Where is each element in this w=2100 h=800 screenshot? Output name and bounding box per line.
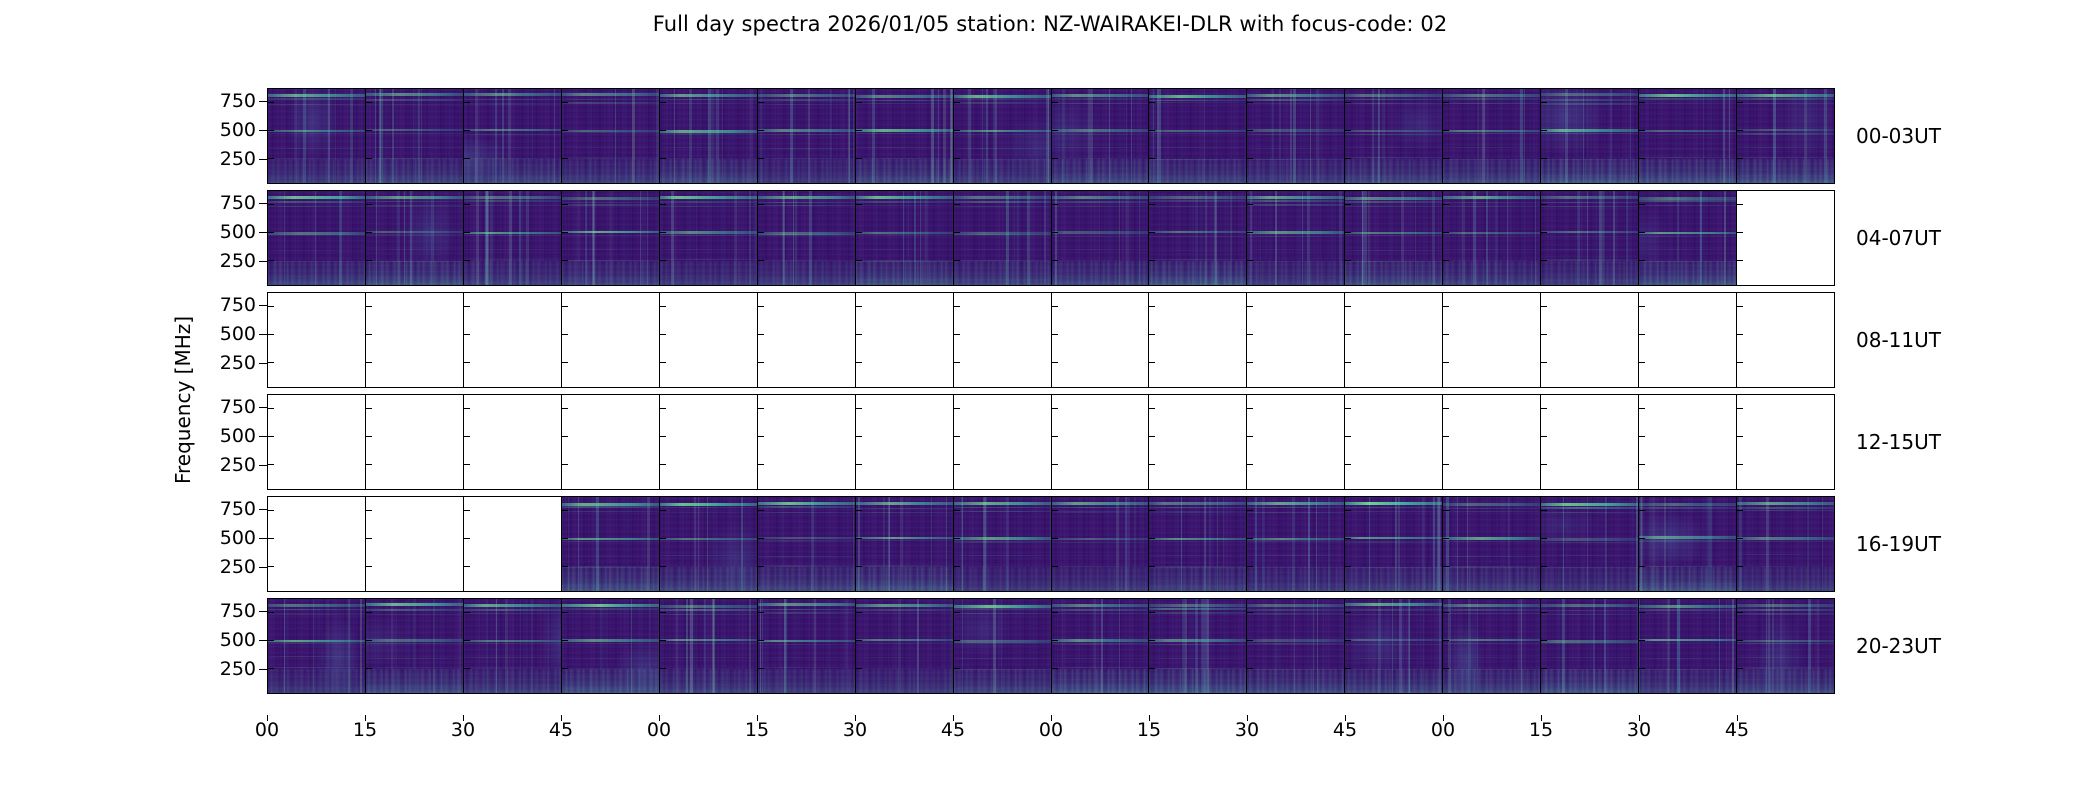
row-time-label: 08-11UT bbox=[1856, 328, 1941, 352]
y-tick-mark bbox=[267, 362, 274, 363]
low-frequency-band bbox=[758, 567, 855, 591]
spectra-broad-emission bbox=[1443, 599, 1540, 693]
y-tick-mark bbox=[659, 334, 666, 335]
y-tick-mark bbox=[757, 436, 764, 437]
spectrogram-panel bbox=[561, 88, 659, 184]
row-time-label: 04-07UT bbox=[1856, 226, 1941, 250]
y-tick-mark bbox=[1442, 158, 1449, 159]
y-tick-mark-outer bbox=[259, 407, 267, 408]
y-tick-mark bbox=[1638, 334, 1645, 335]
y-tick-mark bbox=[855, 260, 862, 261]
x-tick-label: 00 bbox=[255, 719, 279, 741]
y-tick-mark bbox=[953, 510, 960, 511]
spectrogram-row bbox=[267, 598, 1835, 694]
spectra-broad-emission bbox=[1052, 89, 1149, 183]
y-tick-mark bbox=[757, 640, 764, 641]
y-tick-mark bbox=[1540, 510, 1547, 511]
empty-panel bbox=[1246, 292, 1344, 388]
empty-panel bbox=[1246, 394, 1344, 490]
y-tick-mark bbox=[855, 204, 862, 205]
y-tick-mark bbox=[757, 612, 764, 613]
low-frequency-band bbox=[1052, 261, 1149, 285]
y-tick-mark bbox=[757, 260, 764, 261]
low-frequency-band bbox=[1149, 669, 1246, 693]
y-tick-label: 250 bbox=[220, 454, 256, 476]
spectrogram-panel bbox=[1344, 598, 1442, 694]
row-panels bbox=[267, 394, 1835, 490]
y-tick-mark bbox=[1540, 640, 1547, 641]
y-tick-mark bbox=[1246, 204, 1253, 205]
y-tick-mark bbox=[1638, 204, 1645, 205]
empty-panel bbox=[1736, 394, 1835, 490]
low-frequency-band bbox=[758, 669, 855, 693]
y-tick-mark-outer bbox=[259, 509, 267, 510]
spectrogram-panel bbox=[855, 496, 953, 592]
y-tick-mark bbox=[1148, 204, 1155, 205]
y-tick-mark bbox=[1736, 538, 1743, 539]
y-tick-mark bbox=[1540, 362, 1547, 363]
y-tick-mark-outer bbox=[259, 611, 267, 612]
y-tick-mark bbox=[561, 566, 568, 567]
y-tick-mark bbox=[659, 612, 666, 613]
x-tick-label: 15 bbox=[745, 719, 769, 741]
row-time-label: 00-03UT bbox=[1856, 124, 1941, 148]
low-frequency-band bbox=[1443, 261, 1540, 285]
y-tick-mark bbox=[1638, 510, 1645, 511]
x-tick-label: 15 bbox=[1529, 719, 1553, 741]
low-frequency-band bbox=[1443, 159, 1540, 183]
y-tick-mark bbox=[1051, 204, 1058, 205]
y-tick-mark bbox=[855, 158, 862, 159]
y-tick-mark bbox=[1246, 612, 1253, 613]
y-tick-mark bbox=[365, 334, 372, 335]
empty-panel bbox=[953, 394, 1051, 490]
spectrogram-panel bbox=[1148, 88, 1246, 184]
y-tick-mark-outer bbox=[259, 305, 267, 306]
spectrogram-panel bbox=[1344, 88, 1442, 184]
y-tick-mark bbox=[1736, 306, 1743, 307]
y-tick-mark bbox=[953, 204, 960, 205]
y-tick-mark bbox=[855, 640, 862, 641]
y-tick-mark bbox=[953, 640, 960, 641]
y-tick-mark bbox=[1736, 464, 1743, 465]
y-tick-mark bbox=[561, 510, 568, 511]
spectrogram-panel bbox=[757, 190, 855, 286]
spectrogram-panel bbox=[1638, 190, 1736, 286]
spectrogram-panel bbox=[659, 88, 757, 184]
y-tick-mark bbox=[561, 334, 568, 335]
y-tick-mark bbox=[463, 260, 470, 261]
y-tick-mark bbox=[855, 408, 862, 409]
spectrogram-panel bbox=[561, 190, 659, 286]
y-tick-mark bbox=[1442, 640, 1449, 641]
y-tick-label: 500 bbox=[220, 425, 256, 447]
y-tick-mark-outer bbox=[259, 261, 267, 262]
y-tick-mark bbox=[1638, 538, 1645, 539]
x-tick-label: 45 bbox=[1725, 719, 1749, 741]
low-frequency-band bbox=[758, 261, 855, 285]
y-tick-mark bbox=[953, 464, 960, 465]
empty-panel bbox=[1344, 292, 1442, 388]
low-frequency-band bbox=[660, 669, 757, 693]
spectrogram-panel bbox=[1540, 598, 1638, 694]
y-tick-mark bbox=[1442, 464, 1449, 465]
y-tick-mark-outer bbox=[259, 640, 267, 641]
spectrogram-panel bbox=[1638, 496, 1736, 592]
y-tick-mark bbox=[1442, 334, 1449, 335]
spectrogram-panel bbox=[1638, 88, 1736, 184]
y-tick-mark bbox=[855, 334, 862, 335]
y-tick-mark bbox=[1638, 612, 1645, 613]
y-tick-mark bbox=[1246, 566, 1253, 567]
y-tick-mark bbox=[561, 306, 568, 307]
low-frequency-band bbox=[1149, 159, 1246, 183]
y-tick-mark bbox=[365, 362, 372, 363]
y-tick-mark bbox=[1638, 566, 1645, 567]
y-tick-mark bbox=[365, 204, 372, 205]
y-tick-mark bbox=[463, 232, 470, 233]
y-tick-mark bbox=[1148, 464, 1155, 465]
y-tick-mark bbox=[1736, 408, 1743, 409]
y-tick-mark bbox=[1736, 436, 1743, 437]
spectrogram-panel bbox=[561, 598, 659, 694]
x-tick-label: 00 bbox=[647, 719, 671, 741]
y-tick-label: 750 bbox=[220, 498, 256, 520]
y-tick-mark bbox=[1344, 668, 1351, 669]
spectrogram-panel bbox=[1736, 88, 1835, 184]
y-tick-mark bbox=[953, 306, 960, 307]
y-tick-mark bbox=[1344, 566, 1351, 567]
spectrogram-panel bbox=[1442, 598, 1540, 694]
spectrogram-panel bbox=[365, 88, 463, 184]
y-tick-mark bbox=[1540, 158, 1547, 159]
y-tick-mark bbox=[1148, 668, 1155, 669]
y-tick-mark bbox=[1540, 130, 1547, 131]
low-frequency-band bbox=[1149, 261, 1246, 285]
y-tick-mark bbox=[1051, 362, 1058, 363]
y-tick-mark bbox=[267, 158, 274, 159]
y-tick-mark bbox=[1638, 260, 1645, 261]
low-frequency-band bbox=[562, 159, 659, 183]
spectra-broad-emission bbox=[1541, 497, 1638, 591]
spectra-broad-emission bbox=[1345, 599, 1442, 693]
y-tick-mark bbox=[1051, 158, 1058, 159]
spectrogram-panel bbox=[757, 88, 855, 184]
y-tick-mark bbox=[1442, 408, 1449, 409]
y-tick-mark bbox=[953, 158, 960, 159]
y-tick-mark bbox=[659, 510, 666, 511]
y-tick-mark bbox=[365, 102, 372, 103]
y-tick-mark bbox=[757, 668, 764, 669]
y-tick-mark bbox=[1540, 102, 1547, 103]
y-tick-mark bbox=[757, 102, 764, 103]
empty-panel bbox=[953, 292, 1051, 388]
y-tick-mark bbox=[1540, 464, 1547, 465]
spectrogram-row bbox=[267, 190, 1835, 286]
y-tick-mark bbox=[659, 640, 666, 641]
spectrogram-panel bbox=[953, 88, 1051, 184]
row-panels bbox=[267, 88, 1835, 184]
y-tick-mark bbox=[365, 612, 372, 613]
y-tick-mark bbox=[1442, 668, 1449, 669]
y-tick-label: 250 bbox=[220, 250, 256, 272]
x-tick-label: 30 bbox=[843, 719, 867, 741]
y-tick-mark bbox=[365, 436, 372, 437]
spectrogram-row bbox=[267, 88, 1835, 184]
y-tick-mark bbox=[463, 668, 470, 669]
empty-panel bbox=[1148, 292, 1246, 388]
y-tick-label: 750 bbox=[220, 294, 256, 316]
y-tick-mark bbox=[463, 158, 470, 159]
y-tick-mark bbox=[757, 566, 764, 567]
x-tick-label: 30 bbox=[1235, 719, 1259, 741]
y-tick-mark bbox=[1540, 306, 1547, 307]
low-frequency-band bbox=[856, 669, 953, 693]
y-tick-mark bbox=[267, 260, 274, 261]
y-tick-mark bbox=[463, 408, 470, 409]
y-tick-mark bbox=[855, 510, 862, 511]
y-tick-mark bbox=[1344, 538, 1351, 539]
spectra-broad-emission bbox=[366, 191, 463, 285]
y-tick-label: 500 bbox=[220, 119, 256, 141]
y-tick-label: 500 bbox=[220, 629, 256, 651]
y-tick-mark bbox=[1540, 612, 1547, 613]
spectrogram-panel bbox=[757, 598, 855, 694]
y-tick-mark bbox=[267, 538, 274, 539]
y-tick-mark bbox=[953, 102, 960, 103]
y-tick-mark bbox=[1736, 668, 1743, 669]
y-tick-mark bbox=[1051, 612, 1058, 613]
y-tick-mark bbox=[1051, 260, 1058, 261]
y-tick-mark bbox=[1344, 510, 1351, 511]
y-tick-mark bbox=[267, 232, 274, 233]
y-tick-mark bbox=[1148, 362, 1155, 363]
low-frequency-band bbox=[660, 261, 757, 285]
y-tick-mark bbox=[1051, 130, 1058, 131]
y-tick-mark bbox=[267, 566, 274, 567]
y-tick-label: 500 bbox=[220, 527, 256, 549]
y-tick-mark bbox=[1344, 464, 1351, 465]
spectrogram-panel bbox=[855, 190, 953, 286]
y-tick-mark bbox=[365, 260, 372, 261]
y-tick-mark bbox=[953, 260, 960, 261]
y-tick-mark-outer bbox=[259, 436, 267, 437]
y-tick-mark bbox=[1344, 204, 1351, 205]
y-tick-mark bbox=[1540, 260, 1547, 261]
y-tick-mark bbox=[855, 566, 862, 567]
y-tick-label: 250 bbox=[220, 658, 256, 680]
y-tick-mark bbox=[1051, 102, 1058, 103]
spectra-broad-emission bbox=[1737, 599, 1834, 693]
row-panels bbox=[267, 292, 1835, 388]
spectra-broad-emission bbox=[1737, 89, 1834, 183]
y-tick-mark bbox=[1344, 306, 1351, 307]
spectra-broad-emission bbox=[660, 497, 757, 591]
y-tick-mark bbox=[561, 232, 568, 233]
y-tick-mark bbox=[953, 436, 960, 437]
y-tick-mark bbox=[1442, 362, 1449, 363]
low-frequency-band bbox=[1247, 567, 1344, 591]
y-tick-label: 250 bbox=[220, 148, 256, 170]
y-tick-mark bbox=[1246, 538, 1253, 539]
x-tick-label: 15 bbox=[1137, 719, 1161, 741]
y-tick-mark bbox=[365, 464, 372, 465]
y-tick-mark-outer bbox=[259, 203, 267, 204]
low-frequency-band bbox=[1541, 669, 1638, 693]
spectra-broad-emission bbox=[1541, 89, 1638, 183]
low-frequency-band bbox=[562, 567, 659, 591]
y-tick-mark bbox=[855, 538, 862, 539]
y-tick-mark bbox=[1148, 538, 1155, 539]
y-tick-mark bbox=[365, 158, 372, 159]
spectrogram-panel bbox=[1051, 190, 1149, 286]
y-tick-mark bbox=[463, 464, 470, 465]
low-frequency-band bbox=[856, 261, 953, 285]
y-tick-mark bbox=[1051, 334, 1058, 335]
empty-panel bbox=[365, 394, 463, 490]
y-tick-mark bbox=[855, 232, 862, 233]
y-tick-mark bbox=[463, 362, 470, 363]
y-tick-mark bbox=[659, 566, 666, 567]
y-tick-mark bbox=[1736, 130, 1743, 131]
y-tick-mark bbox=[1344, 130, 1351, 131]
y-tick-mark bbox=[1246, 130, 1253, 131]
y-tick-mark bbox=[463, 102, 470, 103]
y-tick-label: 250 bbox=[220, 556, 256, 578]
y-tick-label: 500 bbox=[220, 323, 256, 345]
y-tick-mark bbox=[1051, 566, 1058, 567]
y-tick-mark bbox=[1148, 436, 1155, 437]
spectrogram-panel bbox=[1736, 496, 1835, 592]
y-tick-mark bbox=[659, 408, 666, 409]
y-tick-mark bbox=[1148, 102, 1155, 103]
y-tick-mark bbox=[1736, 102, 1743, 103]
spectrogram-panel bbox=[267, 598, 365, 694]
y-tick-mark bbox=[365, 668, 372, 669]
y-tick-mark bbox=[463, 334, 470, 335]
y-tick-mark bbox=[1051, 538, 1058, 539]
y-tick-mark bbox=[1051, 306, 1058, 307]
y-tick-mark bbox=[365, 130, 372, 131]
spectrogram-panel bbox=[953, 190, 1051, 286]
empty-panel bbox=[365, 496, 463, 592]
y-tick-mark bbox=[757, 204, 764, 205]
y-tick-mark bbox=[1344, 102, 1351, 103]
y-tick-mark bbox=[561, 668, 568, 669]
spectrogram-panel bbox=[1344, 496, 1442, 592]
y-tick-mark bbox=[1638, 668, 1645, 669]
y-tick-mark bbox=[267, 510, 274, 511]
y-tick-mark bbox=[1442, 232, 1449, 233]
y-tick-mark bbox=[855, 362, 862, 363]
y-tick-mark bbox=[463, 204, 470, 205]
page-title: Full day spectra 2026/01/05 station: NZ-… bbox=[0, 12, 2100, 36]
y-tick-mark bbox=[561, 408, 568, 409]
y-tick-mark bbox=[757, 130, 764, 131]
y-tick-mark bbox=[1148, 640, 1155, 641]
y-tick-mark bbox=[1540, 668, 1547, 669]
empty-panel bbox=[1736, 190, 1835, 286]
y-tick-mark bbox=[757, 510, 764, 511]
y-tick-mark bbox=[1442, 538, 1449, 539]
y-tick-mark-outer bbox=[259, 159, 267, 160]
y-tick-mark bbox=[365, 566, 372, 567]
spectra-broad-emission bbox=[1639, 497, 1736, 591]
low-frequency-band bbox=[464, 261, 561, 285]
low-frequency-band bbox=[1345, 261, 1442, 285]
empty-panel bbox=[659, 394, 757, 490]
spectra-broad-emission bbox=[268, 89, 365, 183]
row-time-label: 16-19UT bbox=[1856, 532, 1941, 556]
y-tick-mark bbox=[365, 538, 372, 539]
y-tick-mark bbox=[1638, 408, 1645, 409]
y-tick-mark bbox=[1246, 436, 1253, 437]
low-frequency-band bbox=[660, 159, 757, 183]
spectra-broad-emission bbox=[1639, 191, 1736, 285]
y-tick-mark bbox=[267, 334, 274, 335]
y-tick-label: 750 bbox=[220, 192, 256, 214]
spectrogram-panel bbox=[1051, 88, 1149, 184]
y-tick-mark bbox=[1051, 436, 1058, 437]
y-tick-mark bbox=[1638, 158, 1645, 159]
spectrogram-panel bbox=[1344, 190, 1442, 286]
spectra-broad-emission bbox=[464, 89, 561, 183]
low-frequency-band bbox=[1247, 669, 1344, 693]
y-tick-mark bbox=[1540, 566, 1547, 567]
y-tick-mark-outer bbox=[259, 669, 267, 670]
empty-panel bbox=[267, 292, 365, 388]
y-tick-mark bbox=[1051, 464, 1058, 465]
y-tick-mark bbox=[1638, 232, 1645, 233]
y-tick-mark-outer bbox=[259, 567, 267, 568]
y-tick-mark bbox=[1442, 130, 1449, 131]
spectrogram-panel bbox=[365, 598, 463, 694]
low-frequency-band bbox=[1052, 669, 1149, 693]
y-tick-mark bbox=[267, 612, 274, 613]
spectrogram-panel bbox=[1246, 496, 1344, 592]
y-tick-mark bbox=[855, 464, 862, 465]
y-tick-mark bbox=[1051, 408, 1058, 409]
y-tick-mark bbox=[1148, 130, 1155, 131]
empty-panel bbox=[1540, 292, 1638, 388]
x-tick-label: 00 bbox=[1039, 719, 1063, 741]
spectra-broad-emission bbox=[464, 599, 561, 693]
y-tick-mark bbox=[757, 362, 764, 363]
y-tick-mark bbox=[1246, 640, 1253, 641]
y-tick-mark bbox=[953, 668, 960, 669]
y-tick-mark bbox=[1736, 510, 1743, 511]
y-axis-label: Frequency [MHz] bbox=[171, 316, 195, 484]
spectra-broad-emission bbox=[366, 599, 463, 693]
low-frequency-band bbox=[1149, 567, 1246, 591]
empty-panel bbox=[1344, 394, 1442, 490]
spectrogram-row bbox=[267, 394, 1835, 490]
y-tick-mark bbox=[1246, 158, 1253, 159]
y-tick-mark bbox=[1246, 102, 1253, 103]
y-tick-mark bbox=[1540, 334, 1547, 335]
y-tick-mark bbox=[953, 334, 960, 335]
y-tick-mark bbox=[1736, 612, 1743, 613]
y-tick-mark bbox=[1344, 612, 1351, 613]
y-tick-mark bbox=[561, 130, 568, 131]
y-tick-mark bbox=[1148, 566, 1155, 567]
empty-panel bbox=[561, 394, 659, 490]
spectrogram-panel bbox=[659, 496, 757, 592]
spectrogram-panel bbox=[267, 88, 365, 184]
spectrogram-row bbox=[267, 292, 1835, 388]
y-tick-mark-outer bbox=[259, 130, 267, 131]
y-tick-mark bbox=[463, 640, 470, 641]
